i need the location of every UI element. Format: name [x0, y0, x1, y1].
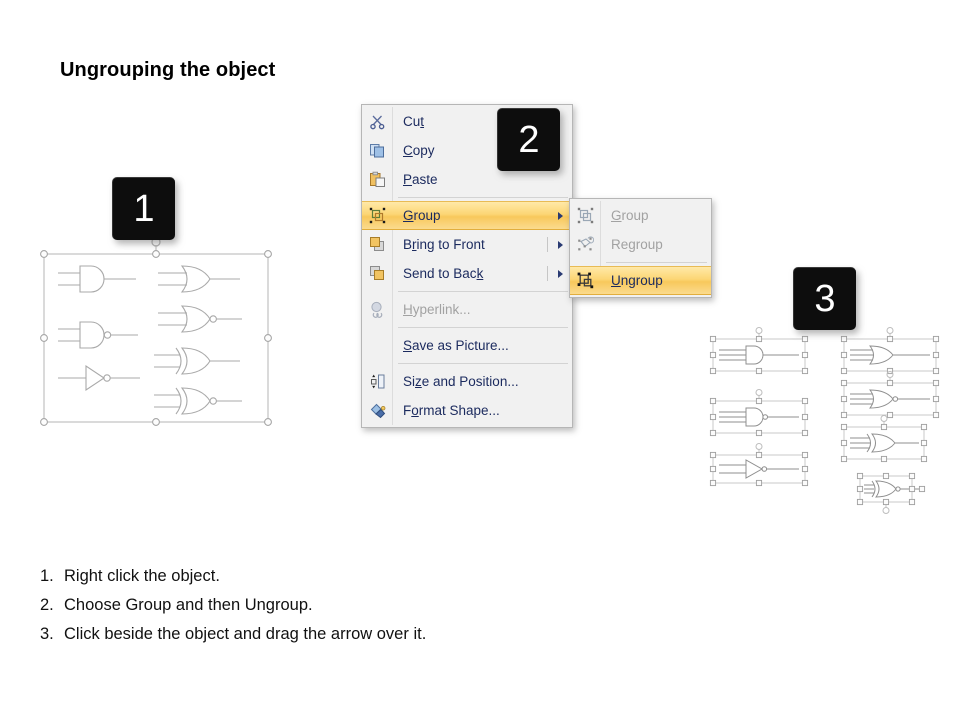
- list-item-text: Click beside the object and drag the arr…: [64, 625, 426, 644]
- menu-item-label: Send to Back: [392, 266, 483, 281]
- menu-item-label: Paste: [392, 172, 438, 187]
- regroup-icon: [570, 230, 600, 259]
- selected-gate: [710, 328, 807, 374]
- menu-item-label: Size and Position...: [392, 374, 519, 389]
- list-item-text: Right click the object.: [64, 567, 220, 586]
- submenu-item-label: Regroup: [600, 237, 663, 252]
- menu-item-format-shape[interactable]: Format Shape...: [362, 396, 572, 425]
- selected-gate: [710, 390, 807, 436]
- selected-gate: [857, 473, 924, 513]
- grouped-logic-diagram[interactable]: [40, 236, 272, 428]
- paste-icon: [362, 165, 392, 194]
- hyperlink-icon: [362, 295, 392, 324]
- selection-handles: [41, 251, 272, 426]
- menu-separator: [398, 363, 568, 364]
- step-badge-label: 3: [814, 280, 835, 318]
- chevron-right-icon: [558, 270, 563, 278]
- selected-gate: [841, 372, 938, 418]
- no-icon: [362, 331, 392, 360]
- group-submenu[interactable]: Group Regroup: [569, 198, 712, 298]
- list-item-text: Choose Group and then Ungroup.: [64, 596, 313, 615]
- scissors-icon: [362, 107, 392, 136]
- menu-item-label: Format Shape...: [392, 403, 500, 418]
- copy-icon: [362, 136, 392, 165]
- list-item-number: 1.: [40, 567, 64, 586]
- menu-item-send-to-back[interactable]: Send to Back: [362, 259, 572, 288]
- list-item: 1. Right click the object.: [40, 567, 426, 596]
- list-item: 2. Choose Group and then Ungroup.: [40, 596, 426, 625]
- submenu-item-regroup: Regroup: [570, 230, 711, 259]
- step-badge-label: 2: [518, 121, 539, 159]
- menu-item-label: Copy: [392, 143, 435, 158]
- chevron-right-icon: [558, 212, 563, 220]
- send-to-back-icon: [362, 259, 392, 288]
- menu-item-divider: [547, 237, 548, 252]
- group-icon: [570, 201, 600, 230]
- menu-separator: [398, 197, 568, 198]
- size-position-icon: [362, 367, 392, 396]
- step-badge-1: 1: [112, 177, 175, 240]
- menu-separator: [398, 327, 568, 328]
- selected-gate: [841, 328, 938, 374]
- menu-item-label: Group: [392, 208, 441, 223]
- submenu-item-label: Ungroup: [600, 273, 663, 288]
- instruction-list: 1. Right click the object. 2. Choose Gro…: [40, 567, 426, 654]
- selected-gate: [710, 444, 807, 486]
- menu-item-hyperlink: Hyperlink...: [362, 295, 572, 324]
- ungrouped-logic-diagram[interactable]: [700, 325, 950, 520]
- bring-to-front-icon: [362, 230, 392, 259]
- submenu-item-label: Group: [600, 208, 649, 223]
- menu-item-group[interactable]: Group: [362, 201, 572, 230]
- menu-item-save-as-picture[interactable]: Save as Picture...: [362, 331, 572, 360]
- selected-gate: [841, 416, 926, 462]
- submenu-separator: [606, 262, 707, 263]
- menu-item-divider: [547, 266, 548, 281]
- chevron-right-icon: [558, 241, 563, 249]
- menu-item-label: Save as Picture...: [392, 338, 509, 353]
- menu-item-label: Hyperlink...: [392, 302, 471, 317]
- menu-item-label: Bring to Front: [392, 237, 485, 252]
- submenu-item-group: Group: [570, 201, 711, 230]
- menu-separator: [398, 291, 568, 292]
- step-badge-label: 1: [133, 190, 154, 228]
- menu-item-size-and-position[interactable]: Size and Position...: [362, 367, 572, 396]
- menu-item-bring-to-front[interactable]: Bring to Front: [362, 230, 572, 259]
- list-item: 3. Click beside the object and drag the …: [40, 625, 426, 654]
- step-badge-3: 3: [793, 267, 856, 330]
- format-shape-icon: [362, 396, 392, 425]
- step-badge-2: 2: [497, 108, 560, 171]
- group-icon: [362, 201, 392, 230]
- submenu-item-ungroup[interactable]: Ungroup: [570, 266, 711, 295]
- menu-item-label: Cut: [392, 114, 424, 129]
- list-item-number: 3.: [40, 625, 64, 644]
- ungroup-icon: [570, 266, 600, 295]
- page-title: Ungrouping the object: [60, 59, 275, 82]
- list-item-number: 2.: [40, 596, 64, 615]
